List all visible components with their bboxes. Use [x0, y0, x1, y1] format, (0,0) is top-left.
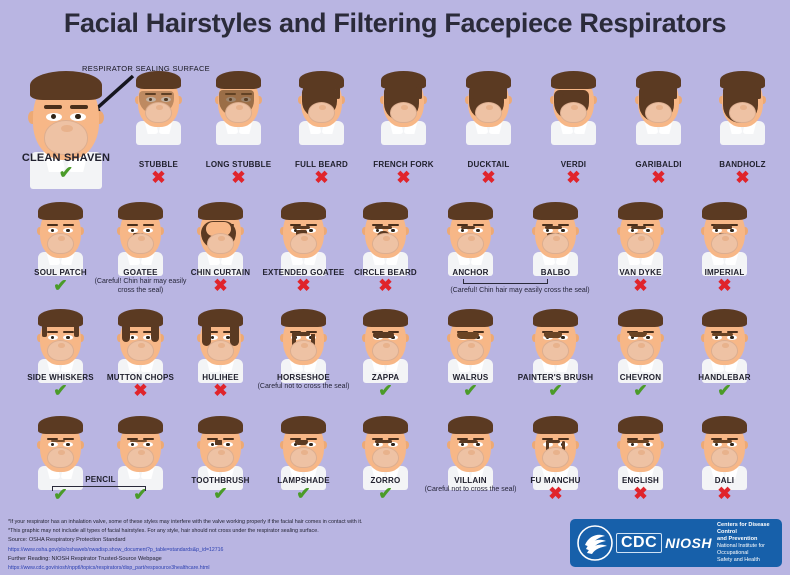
sideburn-right [230, 319, 240, 346]
avatar-circle-beard [358, 193, 414, 276]
moustache-shape [544, 332, 562, 338]
face [200, 206, 241, 258]
cross-icon: ✖ [672, 277, 777, 294]
face [40, 206, 81, 258]
respirator-mask [145, 102, 172, 124]
mask-nose-ridge [553, 450, 560, 455]
hair [618, 202, 663, 220]
mask-nose-ridge [218, 343, 225, 348]
sideburn-left [724, 81, 730, 99]
avatar-goatee [113, 193, 169, 276]
respirator-mask [225, 102, 252, 124]
hair [702, 416, 747, 434]
mask-nose-ridge [138, 236, 145, 241]
face [535, 420, 576, 472]
respirator-mask [711, 340, 738, 362]
eye-right [143, 442, 153, 447]
face [450, 420, 491, 472]
avatar-full-beard [294, 62, 350, 145]
moustache-shape [215, 440, 222, 445]
avatar-garibaldi [631, 62, 687, 145]
face [120, 313, 161, 365]
face [620, 313, 661, 365]
sideburn-right [755, 81, 761, 99]
avatar-verdi [546, 62, 602, 145]
avatar-imperial [697, 193, 753, 276]
cdc-wordmark: CDC [616, 533, 662, 553]
eye-right [143, 228, 153, 233]
cdc-niosh-logo: CDC NIOSH Centers for Disease Control an… [570, 519, 782, 567]
mask-nose-ridge [301, 236, 308, 241]
avatar-walrus [443, 300, 499, 383]
respirator-mask [729, 102, 756, 124]
face [200, 313, 241, 365]
eyebrow-right [63, 331, 74, 333]
sideburn-right [151, 320, 159, 342]
face [620, 206, 661, 258]
hair [30, 71, 103, 100]
respirator-mask [627, 340, 654, 362]
hair [533, 416, 578, 434]
moustache-shape [459, 440, 478, 444]
logo-line-2: and Prevention [717, 536, 777, 543]
face [40, 420, 81, 472]
hair [118, 416, 163, 434]
mask-nose-ridge [58, 236, 65, 241]
mask-nose-ridge [638, 450, 645, 455]
respirator-mask [711, 447, 738, 469]
respirator-mask [457, 233, 484, 255]
group-bracket [463, 279, 548, 284]
hair [448, 202, 493, 220]
moustache-shape [375, 440, 392, 443]
hair [363, 416, 408, 434]
hair [136, 71, 181, 89]
respirator-mask [457, 447, 484, 469]
avatar-extended-goatee [276, 193, 332, 276]
face [283, 313, 324, 365]
mask-nose-ridge [156, 105, 163, 110]
face [365, 313, 406, 365]
avatar-soul-patch [33, 193, 89, 276]
respirator-mask [127, 340, 154, 362]
face [365, 206, 406, 258]
respirator-mask [207, 447, 234, 469]
avatar-zappa [358, 300, 414, 383]
face [120, 206, 161, 258]
mask-nose-ridge [571, 105, 578, 110]
further-reading-url[interactable]: https://www.cdc.gov/niosh/npptl/topics/r… [8, 564, 528, 573]
respirator-mask [290, 447, 317, 469]
avatar-van-dyke [613, 193, 669, 276]
face [33, 76, 100, 160]
moustache-shape [713, 224, 732, 229]
sideburn-left [42, 320, 47, 337]
respirator-mask [542, 233, 569, 255]
face [200, 420, 241, 472]
hair [363, 202, 408, 220]
respirator-mask [308, 102, 335, 124]
moustache-shape [295, 440, 308, 445]
face [120, 420, 161, 472]
face [365, 420, 406, 472]
face [704, 313, 745, 365]
logo-agency-text: Centers for Disease Control and Preventi… [717, 522, 777, 563]
mask-nose-ridge [740, 105, 747, 110]
respirator-mask [47, 447, 74, 469]
hair [281, 309, 326, 327]
moustache-shape [627, 440, 649, 443]
mask-nose-ridge [722, 343, 729, 348]
face [138, 75, 179, 127]
respirator-mask [645, 102, 672, 124]
mask-nose-ridge [383, 236, 390, 241]
respirator-mask [372, 233, 399, 255]
eye-left [48, 335, 58, 340]
avatar-ducktail [461, 62, 517, 145]
pencil-bracket [52, 486, 146, 491]
eyebrow-right [70, 105, 87, 109]
avatar-balbo [528, 193, 584, 276]
mask-nose-ridge [138, 450, 145, 455]
mask-nose-ridge [218, 450, 225, 455]
moustache-shape [562, 94, 581, 99]
face [638, 75, 679, 127]
hair [216, 71, 261, 89]
eye-left [373, 442, 383, 447]
mask-nose-ridge [383, 450, 390, 455]
niosh-wordmark: NIOSH [665, 535, 712, 551]
mask-nose-ridge [301, 343, 308, 348]
avatar-handlebar [697, 300, 753, 383]
logo-line-4: Safety and Health [717, 557, 777, 564]
face [301, 75, 342, 127]
hair [363, 309, 408, 327]
face [383, 75, 424, 127]
hair [38, 416, 83, 434]
eye-right [473, 228, 483, 233]
respirator-mask [127, 233, 154, 255]
sideburn-right [336, 84, 340, 99]
footnote-line-1: *If your respirator has an inhalation va… [8, 518, 528, 527]
hairstyle-cell[interactable] [672, 300, 777, 383]
eyebrow-right [558, 438, 569, 440]
sideburn-right [672, 82, 677, 99]
face [450, 206, 491, 258]
face [218, 75, 259, 127]
sideburn-left [385, 84, 389, 99]
respirator-mask [390, 102, 417, 124]
avatar-hulihee [193, 300, 249, 383]
moustache-shape [457, 332, 479, 339]
eye-left [458, 228, 468, 233]
respirator-mask [372, 447, 399, 469]
source-label: Source: OSHA Respiratory Protection Stan… [8, 536, 528, 546]
cross-icon: ✖ [690, 169, 790, 186]
eye-right [388, 442, 398, 447]
eye-right [63, 442, 73, 447]
respirator-mask [542, 447, 569, 469]
footnote-line-2: *This graphic may not include all types … [8, 527, 528, 536]
hair [281, 202, 326, 220]
mask-nose-ridge [218, 236, 225, 241]
mask-nose-ridge [468, 450, 475, 455]
mask-nose-ridge [722, 236, 729, 241]
avatar-painters-brush [528, 300, 584, 383]
hair [38, 202, 83, 220]
mask-nose-ridge [468, 343, 475, 348]
face [535, 206, 576, 258]
avatar-chin-curtain [193, 193, 249, 276]
avatar-french-fork [376, 62, 432, 145]
avatar-chevron [613, 300, 669, 383]
respirator-mask [372, 340, 399, 362]
moustache-shape [545, 226, 562, 230]
hair [702, 202, 747, 220]
check-icon: ✔ [672, 382, 777, 399]
eyebrow-left [47, 224, 58, 226]
eye-right [63, 228, 73, 233]
eye-left [48, 442, 58, 447]
face [450, 313, 491, 365]
eye-left [48, 228, 58, 233]
mask-nose-ridge [58, 343, 65, 348]
avatar-bandholz [715, 62, 771, 145]
eye-left [46, 113, 62, 121]
mask-nose-ridge [553, 343, 560, 348]
eye-right [643, 442, 653, 447]
moustache-shape [375, 226, 392, 230]
hair [198, 416, 243, 434]
sideburn-left [303, 84, 307, 99]
respirator-mask [457, 340, 484, 362]
face [704, 420, 745, 472]
sideburn-right [503, 84, 507, 99]
hair [448, 309, 493, 327]
face [535, 313, 576, 365]
mask-nose-ridge [638, 236, 645, 241]
avatar-side-whiskers [33, 300, 89, 383]
moustache-shape [461, 226, 475, 229]
hair [551, 71, 596, 89]
face [553, 75, 594, 127]
eye-right [223, 442, 233, 447]
avatar-mutton-chops [113, 300, 169, 383]
footnotes: *If your respirator has an inhalation va… [8, 518, 528, 573]
mask-nose-ridge [138, 343, 145, 348]
avatar-long-stubble [211, 62, 267, 145]
face [40, 313, 81, 365]
sideburn-left [202, 319, 212, 346]
hair [448, 416, 493, 434]
hair [118, 202, 163, 220]
respirator-mask [711, 233, 738, 255]
page-title: Facial Hairstyles and Filtering Facepiec… [0, 8, 790, 39]
respirator-mask [47, 233, 74, 255]
hhs-seal-icon [575, 523, 615, 563]
sideburn-right [74, 320, 79, 337]
mask-nose-ridge [383, 343, 390, 348]
respirator-mask [290, 233, 317, 255]
moustache-shape [293, 226, 310, 230]
hairstyle-label-block: BANDHOLZ✖ [690, 160, 790, 186]
eyebrow-right [473, 224, 484, 226]
respirator-mask [627, 447, 654, 469]
mask-nose-ridge [236, 105, 243, 110]
sideburn-left [122, 320, 130, 342]
sideburn-left [470, 84, 474, 99]
hairstyle-cell[interactable] [690, 62, 790, 145]
infographic-page: Facial Hairstyles and Filtering Facepiec… [0, 0, 790, 575]
moustache-shape [629, 332, 647, 337]
moustache-shape [51, 440, 65, 442]
hairstyle-label-block: DALI✖ [672, 476, 777, 502]
face [722, 75, 763, 127]
hair [702, 309, 747, 327]
respirator-mask [207, 340, 234, 362]
source-url[interactable]: https://www.osha.gov/pls/oshaweb/owadisp… [8, 546, 528, 555]
respirator-mask [47, 340, 74, 362]
mask-nose-ridge [319, 105, 326, 110]
respirator-mask [290, 340, 317, 362]
mask-nose-ridge [656, 105, 663, 110]
eye-right [63, 335, 73, 340]
hairstyle-label-block: IMPERIAL✖ [672, 268, 777, 294]
moustache-shape [373, 332, 394, 338]
hairstyle-label-block: HANDLEBAR✔ [672, 373, 777, 399]
group-label-pencil: PENCIL [8, 475, 193, 484]
eyebrow-right [143, 224, 154, 226]
hair [533, 202, 578, 220]
cross-icon: ✖ [672, 485, 777, 502]
eye-right [70, 113, 86, 121]
hair [533, 309, 578, 327]
respirator-mask [560, 102, 587, 124]
face [704, 206, 745, 258]
moustache-shape [631, 226, 646, 230]
eye-right [727, 442, 737, 447]
mask-nose-ridge [301, 450, 308, 455]
sideburn-right [418, 84, 422, 99]
eyebrow-left [44, 105, 61, 109]
face [283, 206, 324, 258]
avatar-horseshoe [276, 300, 332, 383]
sideburn-left [640, 82, 645, 99]
respirator-mask [475, 102, 502, 124]
moustache-shape [712, 333, 733, 337]
respirator-mask [44, 120, 88, 155]
eyebrow-right [63, 224, 74, 226]
mask-nose-ridge [722, 450, 729, 455]
face [620, 420, 661, 472]
moustache-shape [713, 440, 732, 443]
mask-nose-ridge [553, 236, 560, 241]
hair [618, 416, 663, 434]
face [468, 75, 509, 127]
further-reading-label: Further Reading: NIOSH Respirator Truste… [8, 555, 528, 565]
eye-left [628, 442, 638, 447]
mask-nose-ridge [58, 450, 65, 455]
hair [618, 309, 663, 327]
avatar-anchor [443, 193, 499, 276]
eyebrow-right [223, 438, 234, 440]
mask-nose-ridge [486, 105, 493, 110]
hair [198, 202, 243, 220]
logo-line-1: Centers for Disease Control [717, 522, 777, 536]
mask-nose-ridge [468, 236, 475, 241]
eye-left [712, 442, 722, 447]
avatar-stubble [131, 62, 187, 145]
respirator-mask [127, 447, 154, 469]
moustache-shape [130, 440, 147, 442]
face [283, 420, 324, 472]
hair [281, 416, 326, 434]
respirator-mask [207, 233, 234, 255]
hairstyle-cell[interactable] [672, 193, 777, 276]
mask-nose-ridge [638, 343, 645, 348]
eyebrow-left [127, 224, 138, 226]
respirator-mask [627, 233, 654, 255]
group-caution-note: (Careful! Chin hair may easily cross the… [400, 287, 640, 296]
respirator-mask [542, 340, 569, 362]
logo-line-3: National Institute for Occupational [717, 543, 777, 557]
eyebrow-left [47, 331, 58, 333]
eyebrow-right [306, 438, 317, 440]
eye-left [128, 442, 138, 447]
mask-nose-ridge [401, 105, 408, 110]
mask-nose-ridge [61, 125, 73, 132]
